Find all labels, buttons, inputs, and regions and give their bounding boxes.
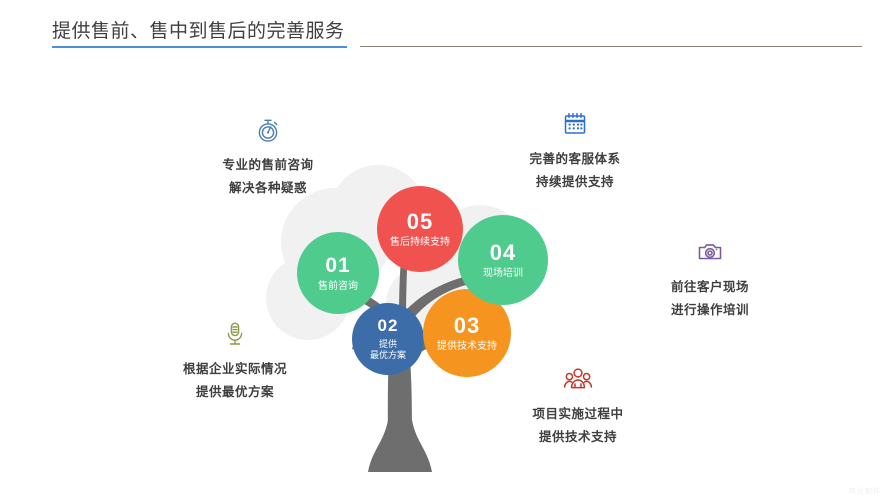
stopwatch-icon xyxy=(188,116,348,144)
camera-icon xyxy=(630,238,790,266)
bubble-number: 04 xyxy=(490,240,516,265)
microphone-icon xyxy=(115,320,355,348)
annotation-line-1: 项目实施过程中 xyxy=(498,403,658,426)
diagram-stage: 01 售前咨询 02 提供 最优方案 03 提供技术支持 04 现场培训 05 … xyxy=(0,60,889,500)
annotation-text: 前往客户现场 进行操作培训 xyxy=(630,276,790,322)
bubble-05[interactable]: 05 售后持续支持 xyxy=(377,186,463,272)
bubble-caption: 提供 最优方案 xyxy=(370,339,406,362)
bubble-caption: 提供技术支持 xyxy=(437,341,497,353)
page-title: 提供售前、售中到售后的完善服务 xyxy=(52,16,345,43)
bubble-caption-line-1: 售前咨询 xyxy=(318,281,358,293)
title-underline-secondary xyxy=(360,46,862,47)
bubble-caption-line-1: 提供 xyxy=(370,339,406,351)
annotation-text: 专业的售前咨询 解决各种疑惑 xyxy=(188,154,348,200)
annotation-onsite-training: 前往客户现场 进行操作培训 xyxy=(630,238,790,322)
annotation-line-1: 根据企业实际情况 xyxy=(115,358,355,381)
bubble-number: 02 xyxy=(378,316,399,336)
annotation-line-2: 持续提供支持 xyxy=(495,171,655,194)
bubble-04[interactable]: 04 现场培训 xyxy=(458,215,548,305)
people-group-icon xyxy=(498,365,658,393)
bubble-caption-line-1: 提供技术支持 xyxy=(437,341,497,353)
annotation-line-2: 解决各种疑惑 xyxy=(188,177,348,200)
bubble-number: 03 xyxy=(454,313,480,338)
annotation-text: 完善的客服体系 持续提供支持 xyxy=(495,148,655,194)
annotation-presales: 专业的售前咨询 解决各种疑惑 xyxy=(188,116,348,200)
calendar-icon xyxy=(495,110,655,138)
bubble-01[interactable]: 01 售前咨询 xyxy=(297,232,379,314)
bubble-caption-line-1: 现场培训 xyxy=(483,268,523,280)
bubble-caption-line-2: 最优方案 xyxy=(370,350,406,362)
bubble-number: 05 xyxy=(407,209,433,234)
annotation-line-1: 完善的客服体系 xyxy=(495,148,655,171)
bubble-caption: 售后持续支持 xyxy=(390,237,450,249)
title-underline-accent xyxy=(52,46,347,48)
annotation-line-2: 提供最优方案 xyxy=(115,381,355,404)
annotation-text: 根据企业实际情况 提供最优方案 xyxy=(115,358,355,404)
annotation-service-system: 完善的客服体系 持续提供支持 xyxy=(495,110,655,194)
annotation-line-1: 专业的售前咨询 xyxy=(188,154,348,177)
annotation-technical-support: 项目实施过程中 提供技术支持 xyxy=(498,365,658,449)
bubble-caption-line-1: 售后持续支持 xyxy=(390,237,450,249)
annotation-line-2: 进行操作培训 xyxy=(630,299,790,322)
annotation-text: 项目实施过程中 提供技术支持 xyxy=(498,403,658,449)
annotation-best-solution: 根据企业实际情况 提供最优方案 xyxy=(115,320,355,404)
annotation-line-1: 前往客户现场 xyxy=(630,276,790,299)
annotation-line-2: 提供技术支持 xyxy=(498,426,658,449)
bubble-02[interactable]: 02 提供 最优方案 xyxy=(352,303,424,375)
bubble-number: 01 xyxy=(325,254,350,278)
bubble-caption: 售前咨询 xyxy=(318,281,358,293)
bubble-caption: 现场培训 xyxy=(483,268,523,280)
watermark: 筑业软件 xyxy=(849,486,881,496)
slide-header: 提供售前、售中到售后的完善服务 xyxy=(0,0,889,60)
